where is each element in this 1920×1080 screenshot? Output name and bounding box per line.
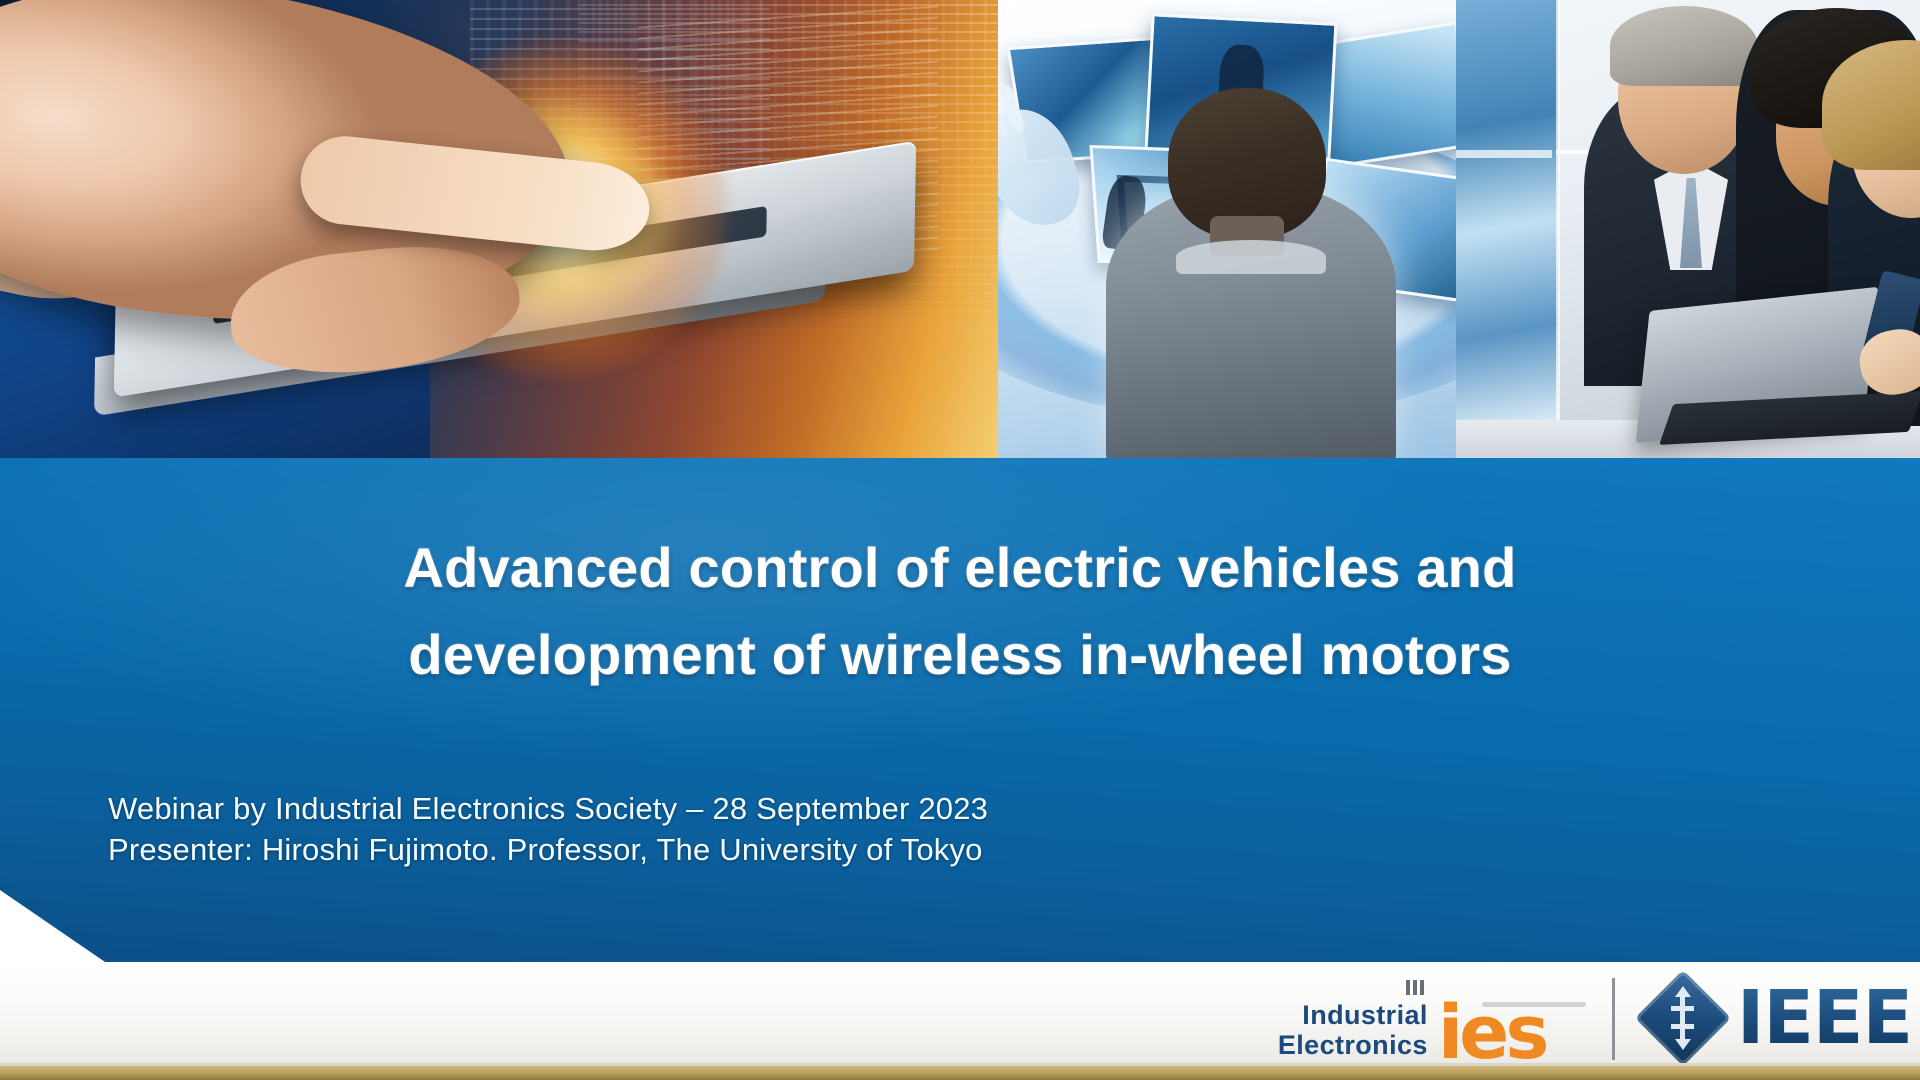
arrow-tip-down bbox=[1675, 1039, 1691, 1050]
hand-pointing-tablet-photo bbox=[0, 0, 998, 460]
photo-strip bbox=[0, 0, 1920, 460]
page-subtitle: Webinar by Industrial Electronics Societ… bbox=[108, 788, 988, 870]
page-title-line-1: Advanced control of electric vehicles an… bbox=[0, 524, 1920, 611]
logo-divider bbox=[1612, 978, 1615, 1060]
arrow-shape bbox=[1680, 994, 1685, 1042]
man-viewing-floating-screens-photo bbox=[998, 0, 1456, 460]
business-team-laptop-photo bbox=[1456, 0, 1920, 460]
collar bbox=[1176, 240, 1326, 274]
arrow-tip-up bbox=[1675, 986, 1691, 997]
ies-logo-line-1: Industrial bbox=[1278, 1000, 1428, 1030]
footer-gold-strip bbox=[0, 1066, 1920, 1080]
ies-mark-text: ies bbox=[1438, 996, 1546, 1070]
wall-display bbox=[1456, 0, 1558, 420]
ieee-logo: IEEE bbox=[1641, 976, 1912, 1066]
ieee-kite-icon bbox=[1641, 976, 1725, 1060]
page-title-line-2: development of wireless in-wheel motors bbox=[0, 611, 1920, 698]
presenter-line: Presenter: Hiroshi Fujimoto. Professor, … bbox=[108, 829, 988, 870]
wall-edge bbox=[1556, 0, 1560, 420]
page-title: Advanced control of electric vehicles an… bbox=[0, 524, 1920, 699]
title-band: Advanced control of electric vehicles an… bbox=[0, 458, 1920, 964]
footer-bar: Industrial Electronics ies IEEE bbox=[0, 962, 1920, 1080]
man-back-view bbox=[1106, 184, 1396, 460]
footer-logos: Industrial Electronics ies IEEE bbox=[1278, 962, 1912, 1066]
ies-logo: Industrial Electronics ies bbox=[1278, 980, 1586, 1066]
ieee-wordmark: IEEE bbox=[1737, 981, 1912, 1055]
ies-logo-line-2: Electronics bbox=[1278, 1030, 1428, 1060]
ies-mark-icon: ies bbox=[1438, 980, 1586, 1064]
ies-wordmark: Industrial Electronics bbox=[1278, 1000, 1428, 1064]
hair bbox=[1610, 6, 1758, 86]
webinar-info-line: Webinar by Industrial Electronics Societ… bbox=[108, 788, 988, 829]
ies-bars-icon bbox=[1406, 980, 1424, 995]
title-slide: Advanced control of electric vehicles an… bbox=[0, 0, 1920, 1080]
